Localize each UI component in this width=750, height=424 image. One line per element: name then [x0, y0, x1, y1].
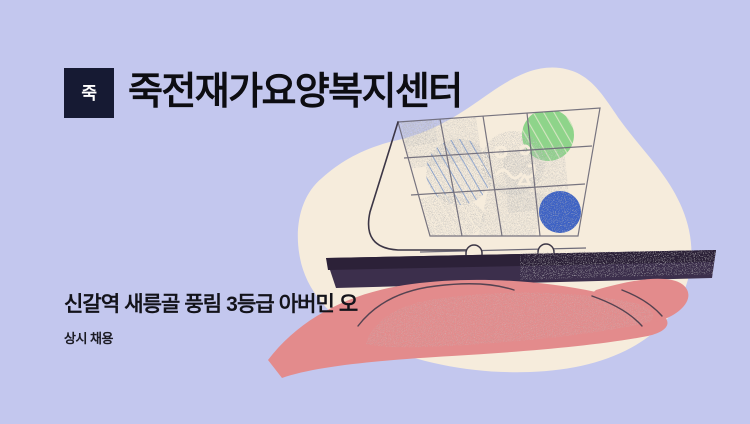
- posting-details: 신갈역 새릉골 풍림 3등급 아버민 오 상시 채용: [64, 292, 357, 347]
- job-posting-banner: 죽 죽전재가요양복지센터 신갈역 새릉골 풍림 3등급 아버민 오 상시 채용: [0, 0, 750, 424]
- job-title: 신갈역 새릉골 풍림 3등급 아버민 오: [64, 292, 357, 317]
- company-name: 죽전재가요양복지센터: [128, 73, 462, 113]
- banner-illustration: [0, 0, 750, 424]
- company-header[interactable]: 죽 죽전재가요양복지센터: [64, 68, 462, 118]
- cart-item-blue-circle: [539, 191, 581, 233]
- company-logo-badge[interactable]: 죽: [64, 68, 114, 118]
- company-logo-initial: 죽: [81, 85, 96, 102]
- recruitment-status-label: 상시 채용: [64, 331, 357, 347]
